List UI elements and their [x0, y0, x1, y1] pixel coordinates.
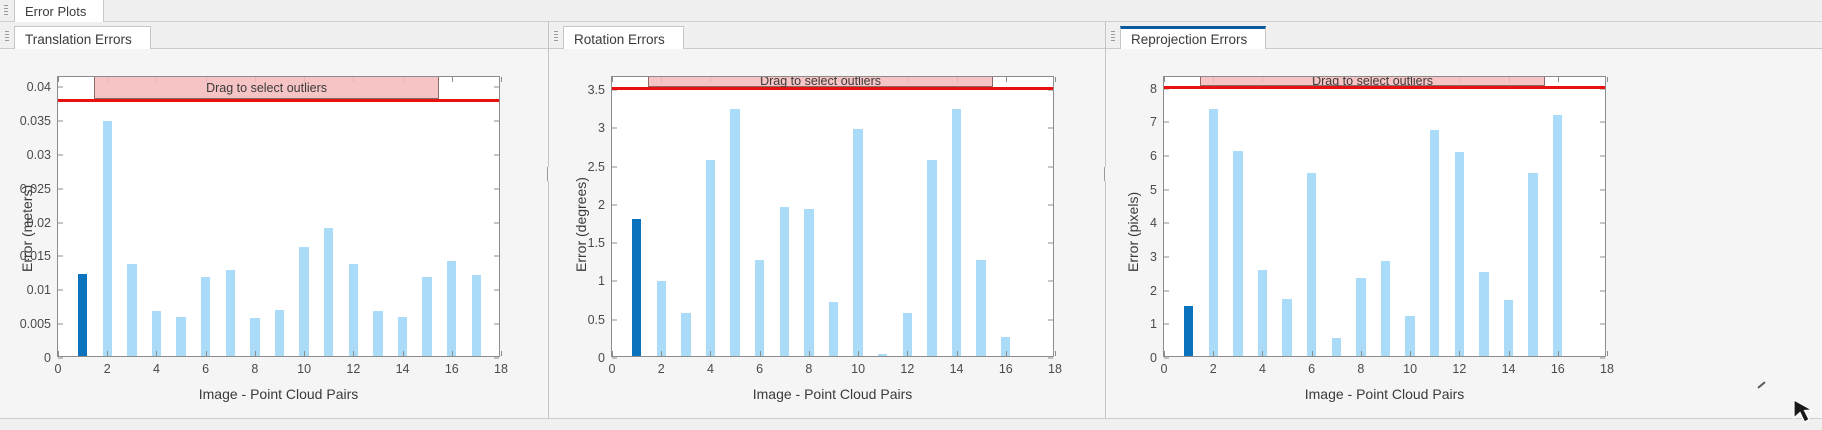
y-tick-label: 0.5: [588, 313, 612, 327]
outlier-threshold-line[interactable]: [612, 87, 1053, 90]
y-tick-label: 2: [598, 198, 612, 212]
x-tick-label: 0: [609, 356, 616, 376]
x-tick-label: 16: [1551, 356, 1565, 376]
bar[interactable]: [1381, 261, 1390, 356]
document-tab-error-plots[interactable]: Error Plots: [14, 0, 104, 22]
x-axis-label: Image - Point Cloud Pairs: [1163, 386, 1606, 402]
x-tick-label: 12: [346, 356, 360, 376]
plot-canvas: Drag to select outliers: [58, 77, 499, 356]
x-axis-label: Image - Point Cloud Pairs: [57, 386, 500, 402]
y-tick-label: 2: [1150, 284, 1164, 298]
bar[interactable]: [1233, 151, 1242, 356]
y-tick-label: 0.04: [27, 80, 58, 94]
y-tick-mark: [1600, 324, 1605, 325]
tab-reprojection-errors[interactable]: Reprojection Errors: [1120, 26, 1266, 49]
panel-tabstrip: Rotation Errors: [549, 22, 1105, 49]
x-tick-mark: [1607, 77, 1608, 82]
y-tick-label: 3: [1150, 250, 1164, 264]
y-tick-mark: [1164, 290, 1169, 291]
bar[interactable]: [176, 317, 185, 356]
y-tick-mark: [1164, 189, 1169, 190]
x-tick-mark: [58, 77, 59, 82]
y-tick-mark: [1600, 189, 1605, 190]
x-tick-label: 0: [55, 356, 62, 376]
bar[interactable]: [927, 160, 936, 356]
bar[interactable]: [472, 275, 481, 356]
y-tick-label: 7: [1150, 115, 1164, 129]
y-tick-mark: [1600, 122, 1605, 123]
y-tick-mark: [58, 154, 63, 155]
y-tick-label: 3.5: [588, 83, 612, 97]
y-tick-label: 5: [1150, 183, 1164, 197]
x-tick-label: 6: [756, 356, 763, 376]
tab-translation-errors[interactable]: Translation Errors: [14, 26, 151, 49]
y-tick-label: 0.01: [27, 283, 58, 297]
x-tick-label: 18: [494, 356, 508, 376]
y-tick-mark: [58, 222, 63, 223]
y-tick-mark: [58, 256, 63, 257]
y-tick-mark: [612, 166, 617, 167]
bar[interactable]: [780, 207, 789, 356]
x-tick-label: 2: [104, 356, 111, 376]
bar[interactable]: [1282, 299, 1291, 356]
panel-tabstrip: Reprojection Errors: [1106, 22, 1822, 49]
y-tick-label: 2.5: [588, 160, 612, 174]
y-tick-label: 6: [1150, 149, 1164, 163]
x-tick-label: 14: [950, 356, 964, 376]
y-tick-label: 1: [598, 274, 612, 288]
y-axis-label: Error (pixels): [1125, 191, 1141, 271]
bar[interactable]: [657, 281, 666, 356]
x-tick-label: 18: [1600, 356, 1614, 376]
x-tick-label: 4: [707, 356, 714, 376]
y-tick-label: 8: [1150, 82, 1164, 96]
y-tick-mark: [58, 87, 63, 88]
x-tick-label: 2: [658, 356, 665, 376]
y-tick-mark: [1048, 281, 1053, 282]
drag-grip-icon[interactable]: [554, 31, 558, 42]
x-tick-label: 0: [1161, 356, 1168, 376]
y-tick-mark: [494, 256, 499, 257]
bar[interactable]: [1479, 272, 1488, 356]
y-tick-mark: [1164, 156, 1169, 157]
bar[interactable]: [878, 354, 887, 356]
bar[interactable]: [853, 129, 862, 356]
x-tick-label: 10: [1403, 356, 1417, 376]
bar[interactable]: [152, 311, 161, 356]
outlier-threshold-line[interactable]: [1164, 86, 1605, 89]
mouse-cursor-icon: [1784, 394, 1820, 430]
error-plots-window: Error Plots Translation ErrorsDrag to se…: [0, 0, 1822, 430]
y-axis-label: Error (degrees): [573, 177, 589, 272]
outlier-band-label: Drag to select outliers: [95, 81, 439, 95]
bar[interactable]: [681, 313, 690, 356]
y-tick-label: 3: [598, 121, 612, 135]
chart-area: Drag to select outliers00.511.522.533.50…: [549, 49, 1105, 430]
panel-reprojection-errors: Reprojection ErrorsDrag to select outlie…: [1106, 22, 1822, 430]
bar[interactable]: [324, 228, 333, 356]
panel-container: Translation ErrorsDrag to select outlier…: [0, 22, 1822, 430]
x-tick-mark: [1164, 77, 1165, 82]
bar[interactable]: [1356, 278, 1365, 356]
bar[interactable]: [201, 277, 210, 356]
y-tick-mark: [1048, 128, 1053, 129]
bar[interactable]: [127, 264, 136, 356]
bar[interactable]: [78, 274, 87, 356]
y-tick-mark: [494, 188, 499, 189]
y-tick-mark: [58, 290, 63, 291]
x-tick-mark: [452, 77, 453, 82]
y-tick-mark: [58, 324, 63, 325]
y-tick-mark: [612, 319, 617, 320]
bar[interactable]: [829, 302, 838, 356]
bar[interactable]: [275, 310, 284, 356]
x-tick-mark: [1558, 77, 1559, 82]
x-tick-label: 10: [851, 356, 865, 376]
outlier-selection-band[interactable]: Drag to select outliers: [1200, 77, 1546, 86]
bar[interactable]: [755, 260, 764, 356]
y-tick-mark: [494, 121, 499, 122]
y-tick-mark: [1600, 156, 1605, 157]
x-tick-mark: [1055, 77, 1056, 82]
y-tick-mark: [1164, 324, 1169, 325]
plot-axes[interactable]: Drag to select outliers00.511.522.533.50…: [611, 76, 1054, 357]
bar[interactable]: [1209, 109, 1218, 356]
panel-rotation-errors: Rotation ErrorsDrag to select outliers00…: [549, 22, 1105, 430]
bar[interactable]: [804, 209, 813, 356]
plot-canvas: Drag to select outliers: [612, 77, 1053, 356]
bar[interactable]: [1258, 270, 1267, 356]
drag-grip-icon[interactable]: [1111, 31, 1115, 42]
bottom-strip: [0, 418, 1822, 430]
y-tick-mark: [58, 121, 63, 122]
x-tick-label: 6: [1308, 356, 1315, 376]
bar[interactable]: [103, 121, 112, 356]
y-tick-mark: [494, 154, 499, 155]
y-tick-label: 0.03: [27, 148, 58, 162]
bar[interactable]: [1504, 300, 1513, 356]
outlier-threshold-line[interactable]: [58, 99, 499, 102]
x-tick-label: 4: [153, 356, 160, 376]
chart-area: Drag to select outliers00.0050.010.0150.…: [0, 49, 548, 430]
document-tabstrip: Error Plots: [0, 0, 1822, 22]
outlier-selection-band[interactable]: Drag to select outliers: [648, 77, 994, 87]
x-tick-label: 18: [1048, 356, 1062, 376]
x-tick-label: 14: [1502, 356, 1516, 376]
y-tick-mark: [612, 243, 617, 244]
y-tick-mark: [1164, 122, 1169, 123]
x-tick-label: 8: [1357, 356, 1364, 376]
outlier-selection-band[interactable]: Drag to select outliers: [94, 77, 440, 99]
y-tick-mark: [58, 188, 63, 189]
bar[interactable]: [1528, 173, 1537, 356]
drag-grip-icon[interactable]: [4, 5, 8, 16]
bar[interactable]: [730, 109, 739, 356]
bar[interactable]: [1332, 338, 1341, 357]
bar[interactable]: [1430, 130, 1439, 356]
x-tick-label: 6: [202, 356, 209, 376]
x-tick-label: 2: [1210, 356, 1217, 376]
bar[interactable]: [447, 261, 456, 356]
y-tick-mark: [1164, 223, 1169, 224]
x-tick-label: 10: [297, 356, 311, 376]
bar[interactable]: [1184, 306, 1193, 356]
x-tick-mark: [612, 77, 613, 82]
bar[interactable]: [632, 219, 641, 356]
y-tick-mark: [1600, 290, 1605, 291]
y-tick-mark: [1048, 243, 1053, 244]
bar[interactable]: [226, 270, 235, 356]
bar[interactable]: [1307, 173, 1316, 356]
chart-area: Drag to select outliers01234567802468101…: [1106, 49, 1822, 430]
y-tick-mark: [612, 281, 617, 282]
x-tick-label: 12: [1452, 356, 1466, 376]
bar[interactable]: [1553, 115, 1562, 356]
bar[interactable]: [422, 277, 431, 356]
y-tick-mark: [612, 204, 617, 205]
x-tick-label: 16: [445, 356, 459, 376]
x-tick-label: 8: [805, 356, 812, 376]
bar[interactable]: [373, 311, 382, 356]
bar[interactable]: [1455, 152, 1464, 356]
x-tick-label: 8: [251, 356, 258, 376]
x-tick-mark: [501, 77, 502, 82]
bar[interactable]: [299, 247, 308, 356]
y-tick-mark: [494, 324, 499, 325]
bar[interactable]: [976, 260, 985, 356]
drag-grip-icon[interactable]: [5, 31, 9, 42]
y-tick-mark: [1048, 204, 1053, 205]
y-tick-mark: [1600, 257, 1605, 258]
y-tick-label: 0.035: [20, 114, 58, 128]
y-tick-mark: [494, 290, 499, 291]
y-tick-mark: [612, 128, 617, 129]
bar[interactable]: [706, 160, 715, 356]
y-tick-mark: [1048, 319, 1053, 320]
tab-rotation-errors[interactable]: Rotation Errors: [563, 26, 684, 49]
bar[interactable]: [349, 264, 358, 356]
y-tick-mark: [1164, 257, 1169, 258]
plot-canvas: Drag to select outliers: [1164, 77, 1605, 356]
panel-tabstrip: Translation Errors: [0, 22, 548, 49]
plot-axes[interactable]: Drag to select outliers01234567802468101…: [1163, 76, 1606, 357]
x-tick-mark: [1006, 77, 1007, 82]
x-tick-label: 4: [1259, 356, 1266, 376]
x-tick-label: 16: [999, 356, 1013, 376]
y-tick-label: 4: [1150, 216, 1164, 230]
y-tick-mark: [494, 87, 499, 88]
y-axis-label: Error (meters): [19, 184, 35, 271]
y-tick-label: 1: [1150, 317, 1164, 331]
bar[interactable]: [952, 109, 961, 356]
panel-translation-errors: Translation ErrorsDrag to select outlier…: [0, 22, 548, 430]
bar[interactable]: [903, 313, 912, 356]
y-tick-label: 1.5: [588, 236, 612, 250]
y-tick-mark: [494, 222, 499, 223]
y-tick-mark: [1600, 223, 1605, 224]
y-tick-mark: [1048, 166, 1053, 167]
x-tick-label: 14: [396, 356, 410, 376]
x-tick-label: 12: [900, 356, 914, 376]
plot-axes[interactable]: Drag to select outliers00.0050.010.0150.…: [57, 76, 500, 357]
y-tick-label: 0.005: [20, 317, 58, 331]
x-axis-label: Image - Point Cloud Pairs: [611, 386, 1054, 402]
